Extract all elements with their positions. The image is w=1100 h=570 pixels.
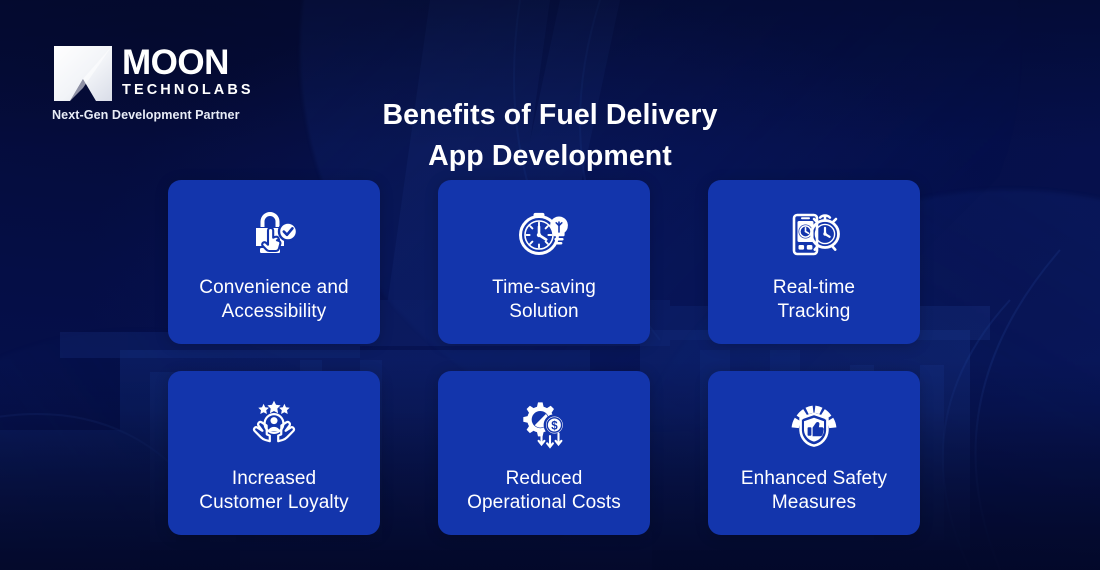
benefit-label-line-2: Tracking (778, 301, 851, 322)
benefit-card-label: Enhanced Safety Measures (733, 467, 895, 515)
card-icon-wrap (785, 397, 843, 453)
benefit-label-line-1: Enhanced Safety (741, 468, 887, 489)
benefit-label-line-1: Real-time (773, 277, 855, 298)
clock-lightbulb-icon (517, 209, 571, 259)
benefit-label-line-2: Customer Loyalty (199, 492, 348, 513)
page-title-line-1: Benefits of Fuel Delivery (382, 99, 717, 131)
shield-thumbs-up-arc-icon (787, 400, 841, 450)
benefit-card-reduced-costs[interactable]: $ Reduced Operational Costs (438, 371, 650, 535)
padlock-hand-check-icon (247, 208, 301, 260)
mountain-logo-icon (52, 46, 114, 101)
benefit-card-label: Convenience and Accessibility (191, 276, 356, 324)
logo-name: MOON (122, 47, 254, 79)
benefit-card-convenience[interactable]: Convenience and Accessibility (168, 180, 380, 344)
card-icon-wrap (245, 397, 303, 453)
benefit-label-line-1: Convenience and (199, 277, 348, 298)
benefit-label-line-2: Accessibility (222, 301, 327, 322)
benefit-label-line-2: Solution (509, 301, 578, 322)
benefit-label-line-1: Reduced (506, 468, 583, 489)
logo-subname: TECHNOLABS (122, 81, 254, 99)
card-icon-wrap: $ (515, 397, 573, 453)
benefit-card-label: Reduced Operational Costs (459, 467, 629, 515)
phone-alarm-clock-icon (787, 209, 841, 259)
benefit-card-label: Increased Customer Loyalty (191, 467, 356, 515)
hands-customer-stars-icon (247, 400, 301, 450)
logo-tagline: Next-Gen Development Partner (52, 108, 260, 122)
card-icon-wrap (515, 206, 573, 262)
card-icon-wrap (785, 206, 843, 262)
benefit-card-customer-loyalty[interactable]: Increased Customer Loyalty (168, 371, 380, 535)
benefits-grid: Convenience and Accessibility (168, 180, 934, 535)
benefit-card-label: Time-saving Solution (484, 276, 604, 324)
card-icon-wrap (245, 206, 303, 262)
benefit-card-real-time-tracking[interactable]: Real-time Tracking (708, 180, 920, 344)
logo-lockup: MOON TECHNOLABS (52, 46, 260, 101)
benefit-card-label: Real-time Tracking (765, 276, 863, 324)
page-title-line-2: App Development (290, 136, 810, 177)
benefit-card-time-saving[interactable]: Time-saving Solution (438, 180, 650, 344)
gear-dollar-down-arrows-icon: $ (517, 400, 571, 450)
benefit-card-enhanced-safety[interactable]: Enhanced Safety Measures (708, 371, 920, 535)
benefit-label-line-2: Measures (772, 492, 856, 513)
brand-logo: MOON TECHNOLABS Next-Gen Development Par… (52, 46, 260, 122)
benefit-label-line-2: Operational Costs (467, 492, 621, 513)
infographic-canvas: MOON TECHNOLABS Next-Gen Development Par… (0, 0, 1100, 570)
page-title: Benefits of Fuel Delivery App Developmen… (290, 95, 810, 178)
logo-wordmark: MOON TECHNOLABS (122, 46, 254, 99)
benefit-label-line-1: Increased (232, 468, 316, 489)
svg-text:$: $ (551, 420, 558, 432)
benefit-label-line-1: Time-saving (492, 277, 596, 298)
